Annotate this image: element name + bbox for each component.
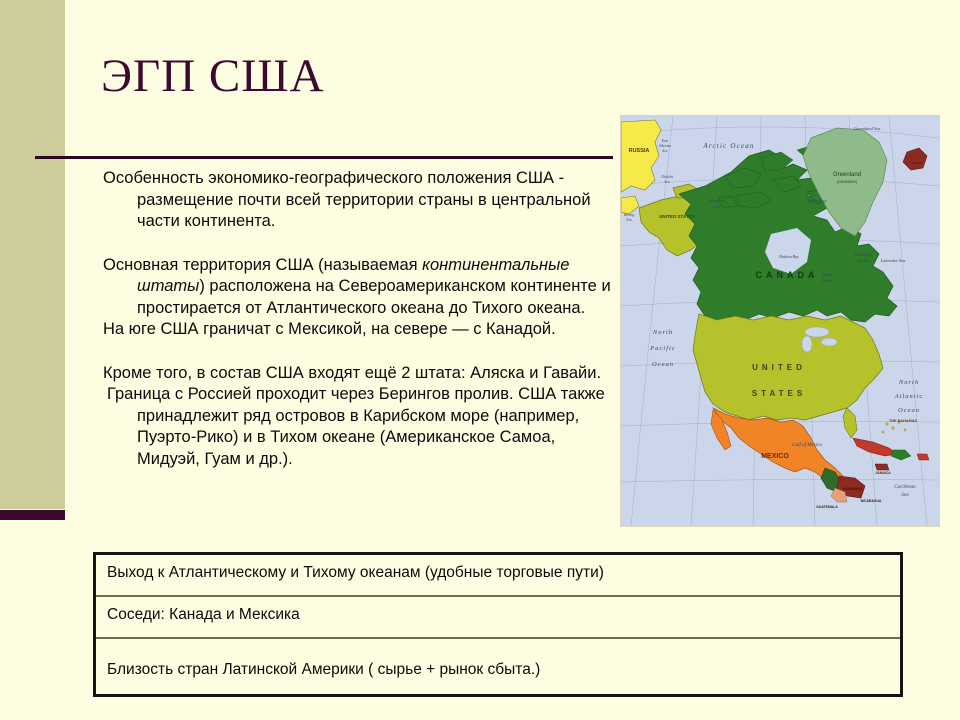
paragraph-1: Особенность экономико-географического по…: [103, 168, 613, 233]
north-america-map: Arctic Ocean Greenland Sea Beaufort Sea …: [620, 115, 940, 527]
svg-text:Siberian: Siberian: [659, 144, 671, 148]
left-band-accent-bar: [0, 510, 65, 520]
svg-text:Sea: Sea: [664, 180, 669, 184]
table-row: Соседи: Канада и Мексика: [96, 597, 900, 639]
svg-text:Labrador Sea: Labrador Sea: [880, 258, 907, 263]
svg-text:Caribbean: Caribbean: [894, 485, 916, 490]
svg-text:RUSSIA: RUSSIA: [629, 148, 650, 154]
svg-text:Beaufort: Beaufort: [709, 198, 725, 203]
svg-text:Denmark: Denmark: [854, 252, 873, 257]
svg-text:Baffin Bay: Baffin Bay: [807, 198, 826, 203]
advantages-table: Выход к Атлантическому и Тихому океанам …: [93, 552, 903, 697]
svg-text:Sea: Sea: [901, 493, 909, 498]
paragraph-5: Граница с Россией проходит через Беринго…: [103, 384, 613, 470]
svg-text:Iceland: Iceland: [912, 161, 923, 165]
svg-text:(DENMARK): (DENMARK): [837, 180, 857, 184]
svg-text:Ocean: Ocean: [898, 407, 920, 414]
table-row: Близость стран Латинской Америки ( сырье…: [96, 639, 900, 694]
svg-text:Sea: Sea: [626, 218, 631, 222]
svg-text:HONDURAS: HONDURAS: [843, 487, 863, 491]
svg-text:Gulf of Mexico: Gulf of Mexico: [792, 443, 822, 448]
svg-text:CANADA: CANADA: [756, 270, 819, 280]
svg-text:Pacific: Pacific: [649, 345, 675, 352]
svg-text:NICARAGUA: NICARAGUA: [861, 499, 882, 503]
svg-text:Strait: Strait: [822, 278, 833, 283]
svg-text:Sea: Sea: [714, 204, 721, 209]
svg-text:Greenland Sea: Greenland Sea: [854, 126, 881, 131]
paragraph-3: На юге США граничат с Мексикой, на север…: [103, 319, 613, 341]
map-graphic: Arctic Ocean Greenland Sea Beaufort Sea …: [621, 116, 939, 526]
svg-text:UNITED STATES: UNITED STATES: [659, 214, 695, 219]
svg-text:Bering: Bering: [624, 213, 634, 217]
table-row: Выход к Атлантическому и Тихому океанам …: [96, 555, 900, 597]
svg-text:Arctic Ocean: Arctic Ocean: [702, 142, 754, 150]
paragraph-2: Основная территория США (называемая конт…: [103, 255, 613, 320]
svg-text:JAMAICA: JAMAICA: [875, 471, 891, 475]
body-text-column: Особенность экономико-географического по…: [103, 168, 613, 470]
svg-text:Ocean: Ocean: [652, 361, 674, 368]
paragraph-2-part-1: Основная территория США (называемая: [103, 256, 422, 274]
svg-text:East: East: [661, 139, 669, 143]
page-title: ЭГП США: [101, 48, 621, 104]
svg-text:Greenland: Greenland: [833, 172, 861, 178]
svg-text:UNITED: UNITED: [752, 363, 806, 372]
svg-text:Chukchi: Chukchi: [661, 175, 673, 179]
svg-text:Atlantic: Atlantic: [894, 393, 924, 400]
svg-text:North: North: [652, 329, 673, 336]
svg-text:MEXICO: MEXICO: [761, 453, 789, 460]
svg-text:Strait: Strait: [858, 258, 869, 263]
left-decorative-band: [0, 0, 65, 509]
svg-text:Hudson Bay: Hudson Bay: [778, 254, 799, 259]
svg-text:North: North: [898, 379, 919, 386]
svg-text:GUATEMALA: GUATEMALA: [816, 505, 838, 509]
svg-text:STATES: STATES: [752, 389, 806, 398]
title-divider-rule: [35, 156, 613, 159]
paragraph-2-part-2: ) расположена на Североамериканском конт…: [137, 277, 611, 317]
svg-text:Sea: Sea: [662, 149, 667, 153]
paragraph-4: Кроме того, в состав США входят ещё 2 шт…: [103, 363, 613, 385]
svg-text:Davis: Davis: [821, 272, 833, 277]
svg-text:THE BAHAMAS: THE BAHAMAS: [889, 419, 918, 423]
